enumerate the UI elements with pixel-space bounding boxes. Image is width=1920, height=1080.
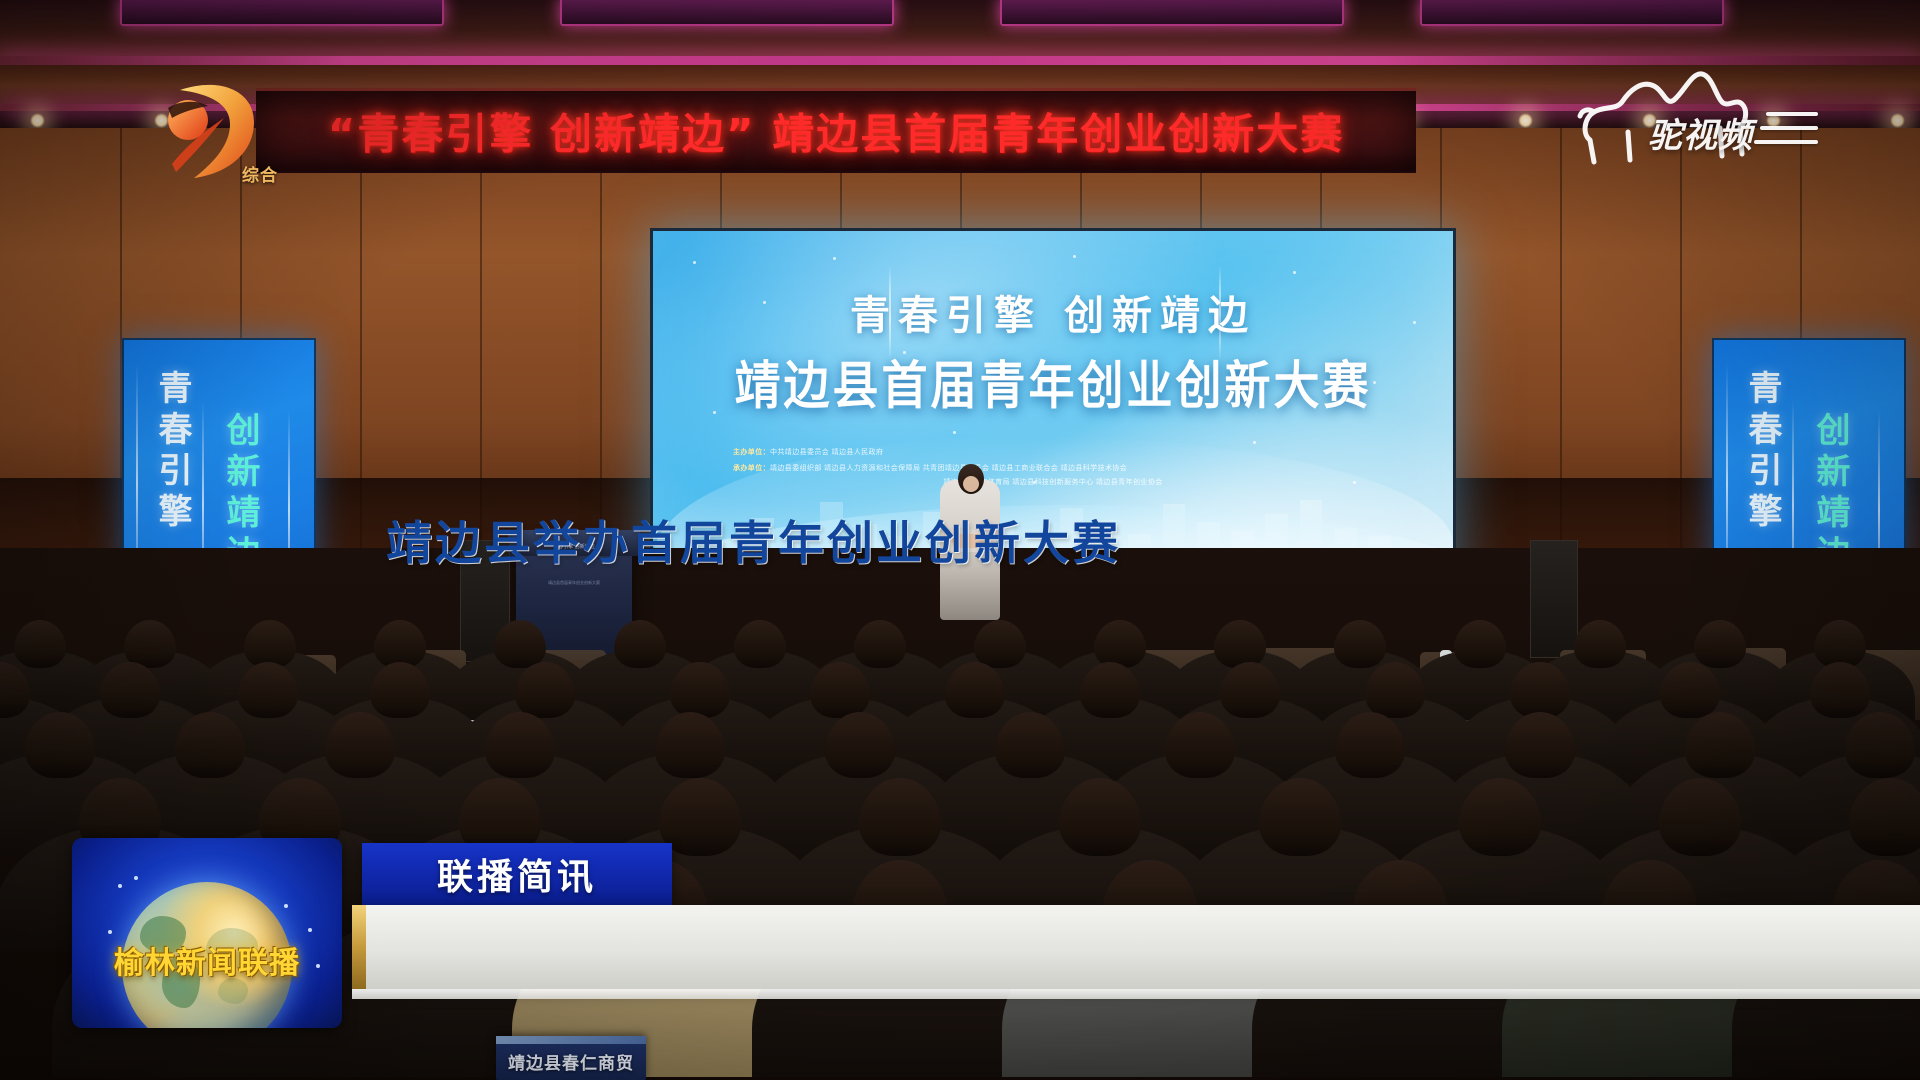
downlight: [30, 113, 45, 128]
side-panel-left-column-1: 青春引擎: [148, 370, 197, 534]
headline-underbar: [352, 989, 1920, 999]
led-credit-line-2: 承办单位：靖边县委组织部 靖边县人力资源和社会保障局 共青团靖边县委员会 靖边县…: [733, 463, 1373, 474]
led-credit-line-1: 主办单位：中共靖边县委员会 靖边县人民政府: [733, 447, 1373, 458]
led-sparkle: [693, 261, 696, 264]
led-title-secondary: 靖边县首届青年创业创新大赛: [653, 345, 1453, 419]
ceiling-light-panel: [1420, 0, 1724, 26]
desk-placard: 靖边县春仁商贸: [496, 1036, 646, 1080]
broadcast-frame: “青春引擎 创新靖边” 靖边县首届青年创业创新大赛 青春引擎 创新靖边 青春引擎…: [0, 0, 1920, 1080]
led-sparkle: [1073, 255, 1076, 258]
category-tag: 联播简讯: [362, 843, 672, 905]
led-sparkle: [1253, 441, 1256, 444]
desk-placard-text: 靖边县春仁商贸: [496, 1049, 646, 1074]
video-watermark: 驼视频: [1570, 62, 1820, 172]
channel-logo-sublabel: 综合: [242, 161, 278, 186]
led-title-primary: 青春引擎 创新靖边: [653, 283, 1453, 341]
headline-bar: [352, 905, 1920, 989]
venue-banner: “青春引擎 创新靖边” 靖边县首届青年创业创新大赛: [256, 88, 1416, 173]
presenter-face: [963, 476, 979, 492]
downlight: [1890, 113, 1905, 128]
led-sparkle: [1293, 271, 1296, 274]
led-sparkle: [833, 257, 836, 260]
headline-text: 靖边县举办首届青年创业创新大赛: [386, 507, 1121, 573]
led-credit-line-3: 靖边县教育和体育局 靖边县科技创新服务中心 靖边县青年创业协会: [733, 477, 1373, 488]
channel-logo: 综合: [150, 72, 280, 192]
program-logo: 榆林新闻联播: [72, 838, 342, 1028]
ceiling-light-panel: [1000, 0, 1344, 26]
category-tag-label: 联播简讯: [362, 848, 672, 900]
downlight: [1518, 113, 1533, 128]
ceiling-light-panel: [560, 0, 894, 26]
program-logo-label: 榆林新闻联播: [72, 938, 342, 982]
podium-sign-line-2: 靖边县首届青年创业创新大赛: [526, 580, 622, 586]
side-panel-right-column-1: 青春引擎: [1738, 370, 1787, 534]
headline-accent-stripe: [352, 905, 366, 989]
loudspeaker-right: [1530, 540, 1578, 658]
led-sparkle: [953, 431, 956, 434]
ceiling-light-panel: [120, 0, 444, 26]
watermark-label: 驼视频: [1648, 108, 1753, 157]
venue-banner-text: “青春引擎 创新靖边” 靖边县首届青年创业创新大赛: [256, 101, 1416, 162]
